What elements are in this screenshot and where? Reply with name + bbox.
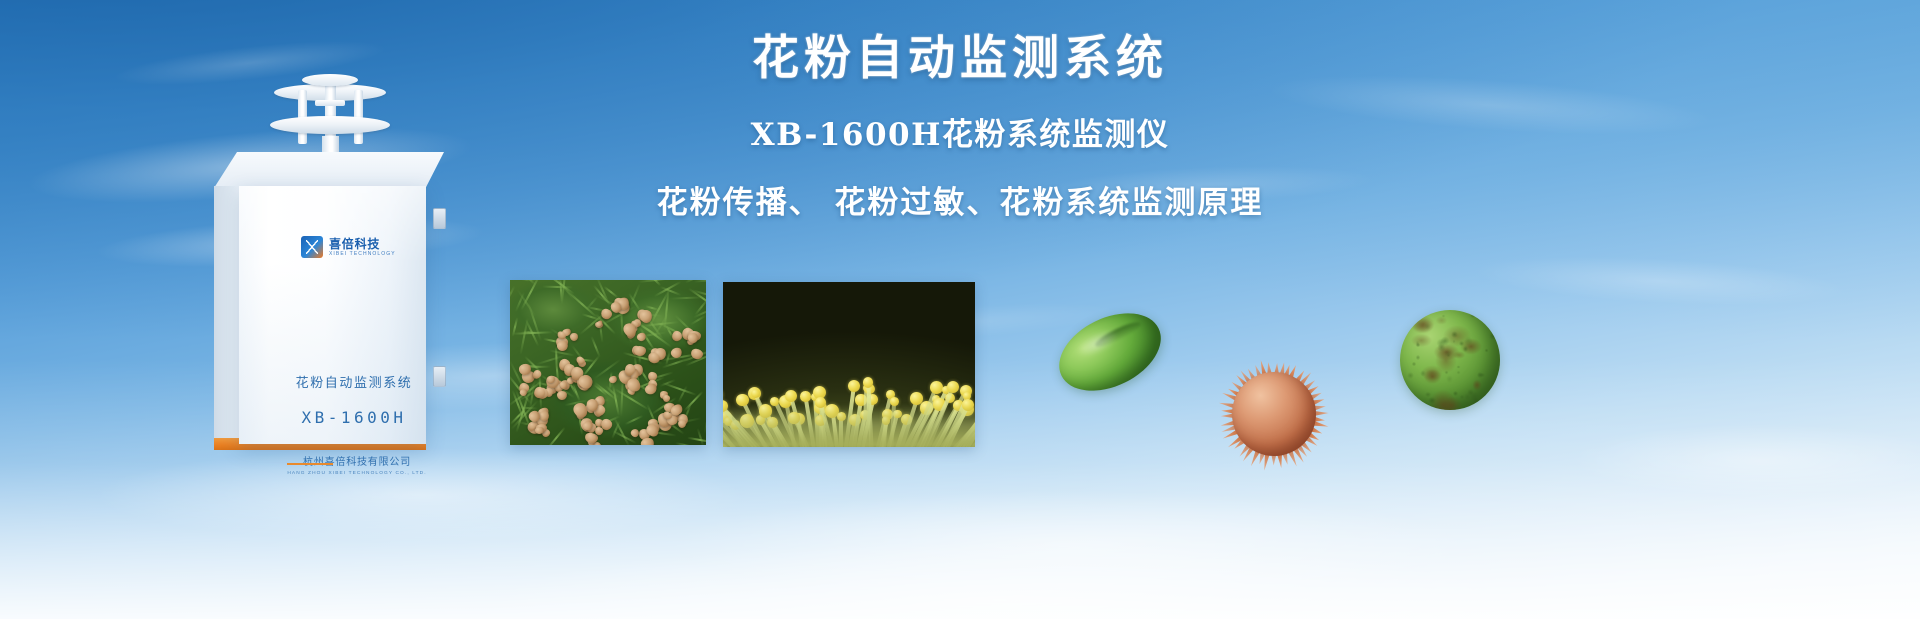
shield-disc-lower: [270, 116, 390, 134]
cabinet-side-panel: [214, 186, 240, 444]
grain-pore: [1490, 325, 1499, 334]
pollen-grain-echinate: [1218, 358, 1330, 470]
grain-pore: [1476, 371, 1484, 379]
device-company-block: 杭州喜倍科技有限公司 HANG ZHOU XIBEI TECHNOLOGY CO…: [239, 453, 475, 476]
cedar-needle: [555, 347, 558, 366]
device-model-number: XB-1600H: [239, 408, 469, 427]
pollen-monitoring-banner: 花粉自动监测系统 XB-1600H花粉系统监测仪 花粉传播、 花粉过敏、花粉系统…: [0, 0, 1920, 619]
rain-shield-sampling-head: [268, 78, 392, 160]
cabinet-latch-lower[interactable]: [433, 366, 446, 387]
grain-pore: [1424, 391, 1432, 399]
grain-pore: [1475, 312, 1484, 321]
grain-pore: [1423, 322, 1432, 331]
logo-wordmark: 喜倍科技 XIBEI TECHNOLOGY: [329, 238, 396, 257]
grain-body: [1400, 310, 1500, 410]
grain-pore: [1482, 392, 1491, 401]
grain-pore: [1463, 335, 1474, 346]
tagline: 花粉传播、 花粉过敏、花粉系统监测原理: [560, 183, 1360, 223]
cabinet-front-panel: 喜倍科技 XIBEI TECHNOLOGY 花粉自动监测系统 XB-1600H …: [239, 186, 426, 444]
photo-yellow-catkin: [723, 282, 975, 447]
grain-pore: [1452, 339, 1456, 343]
catkin-anther: [800, 391, 810, 401]
shield-cap: [302, 74, 358, 86]
grain-pore: [1439, 335, 1451, 347]
device-brand-logo: 喜倍科技 XIBEI TECHNOLOGY: [301, 236, 396, 258]
cabinet-latch-upper[interactable]: [433, 208, 446, 229]
logo-name-en: XIBEI TECHNOLOGY: [329, 252, 396, 257]
product-subtitle: XB-1600H花粉系统监测仪: [560, 115, 1360, 155]
grain-body: [1232, 372, 1316, 456]
grain-pore: [1456, 370, 1461, 375]
shield-crossbar: [315, 100, 345, 106]
catkin-anther: [947, 381, 959, 393]
grain-pore: [1446, 353, 1451, 358]
headline-block: 花粉自动监测系统 XB-1600H花粉系统监测仪 花粉传播、 花粉过敏、花粉系统…: [560, 30, 1360, 223]
device-accent-rule: [287, 463, 333, 465]
grain-pore: [1445, 374, 1455, 384]
grain-pore: [1415, 340, 1421, 346]
monitoring-device: 喜倍科技 XIBEI TECHNOLOGY 花粉自动监测系统 XB-1600H …: [196, 78, 464, 438]
catkin-axis: [723, 405, 975, 447]
xibei-logo-mark: [301, 236, 323, 258]
catkin-anther: [751, 389, 760, 398]
grain-pore: [1471, 396, 1480, 405]
grain-pore: [1403, 397, 1411, 405]
company-name-en: HANG ZHOU XIBEI TECHNOLOGY CO., LTD.: [239, 471, 475, 476]
grain-pore: [1406, 371, 1415, 380]
photo-cedar-pollen-cones: [510, 280, 706, 445]
company-name-cn: 杭州喜倍科技有限公司: [239, 453, 475, 468]
pollen-grain-ellipsoid: [1056, 318, 1164, 386]
logo-name-cn: 喜倍科技: [329, 238, 396, 250]
grain-pore: [1415, 354, 1422, 361]
catkin-anther: [930, 381, 943, 394]
grain-pore: [1419, 369, 1427, 377]
grain-pore: [1484, 348, 1489, 353]
cedar-needle: [542, 285, 573, 288]
grain-pore: [1411, 361, 1418, 368]
page-title: 花粉自动监测系统: [560, 30, 1360, 89]
pollen-grain-rough: [1400, 310, 1500, 410]
grain-pore: [1456, 365, 1460, 369]
cabinet-top-panel: [214, 152, 444, 188]
